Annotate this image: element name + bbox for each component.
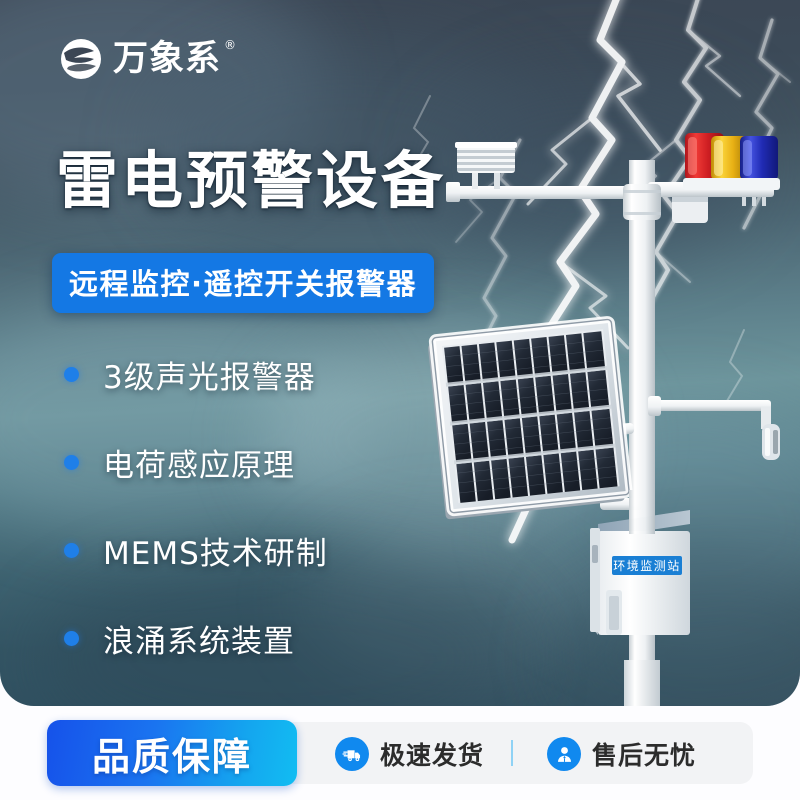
delivery-truck-icon [335,737,369,771]
service-fast-shipping[interactable]: 极速发货 [335,736,484,772]
bullet-dot-icon [64,367,79,382]
mast-collar [623,184,661,220]
beacon-platform [648,182,774,223]
cloud-blob [300,520,600,680]
list-item: 电荷感应原理 [64,432,328,492]
trust-banner: 品质保障 极速发货 [47,722,753,784]
feature-label: MEMS技术研制 [103,528,328,573]
customer-service-person-icon [547,737,581,771]
feature-list: 3级声光报警器 电荷感应原理 MEMS技术研制 浪涌系统装置 [64,344,328,696]
red-alarm-beacon [683,133,726,190]
brand-name: 万象系 ® [113,42,221,77]
hero-section: 环境监测站 万象系 ® [0,0,800,706]
cabinet-label: 环境监测站 [613,558,681,573]
cloud-blob [560,560,800,706]
list-item: 3级声光报警器 [64,344,328,404]
service-label: 售后无忧 [592,736,696,772]
swirl-globe-logo-icon [58,36,104,82]
blue-alarm-beacon [738,136,780,190]
registered-mark: ® [224,39,237,51]
radiation-shield-sensor [455,142,517,189]
feature-label: 浪涌系统装置 [103,616,295,661]
control-cabinet: 环境监测站 [590,510,690,635]
solar-panel-mount [596,423,642,510]
camera-arm [648,396,771,429]
bullet-dot-icon [64,455,79,470]
solar-panel [427,319,630,519]
bullet-dot-icon [64,543,79,558]
list-item: 浪涌系统装置 [64,608,328,668]
upper-crossarm [446,182,638,202]
brand-logo[interactable]: 万象系 ® [58,36,221,82]
promo-banner-page: 环境监测站 万象系 ® [0,0,800,800]
cloud-blob [430,70,760,260]
subtitle-badge: 远程监控·遥控开关报警器 [52,253,434,313]
service-label: 极速发货 [380,736,484,772]
mast-base [624,660,660,706]
quality-guarantee-label: 品质保障 [92,726,252,781]
quality-guarantee-pill[interactable]: 品质保障 [47,720,297,786]
feature-label: 电荷感应原理 [103,440,295,485]
yellow-alarm-beacon [709,136,751,190]
feature-label: 3级声光报警器 [103,352,316,397]
brand-name-text: 万象系 [113,39,221,79]
list-item: MEMS技术研制 [64,520,328,580]
bullet-dot-icon [64,631,79,646]
camera-sensor [762,424,780,460]
page-title: 雷电预警设备 [56,148,446,213]
mast-pole [629,160,655,706]
banner-divider [511,740,513,766]
service-after-sales[interactable]: 售后无忧 [547,736,696,772]
cloud-blob [520,400,800,650]
